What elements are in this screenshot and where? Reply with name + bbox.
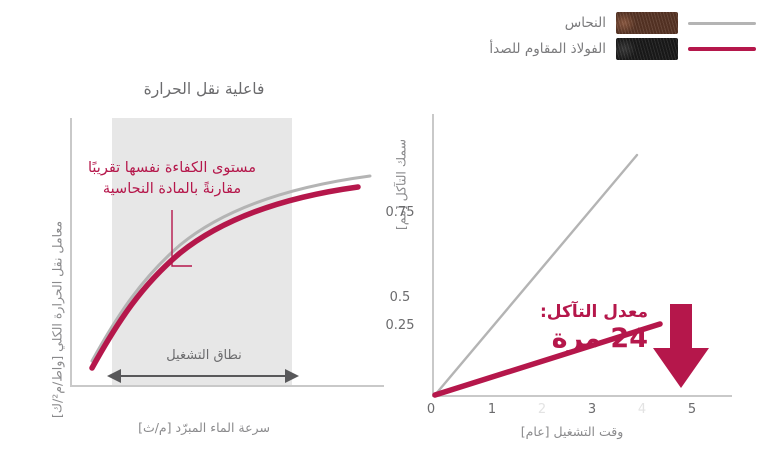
right-chart-panel: سمك التآكل [مم] 0.75 0.5 0.25 معدل التآك… — [384, 72, 760, 452]
corrosion-rate-annotation: معدل التآكل: 24 مرة — [500, 303, 648, 355]
right-chart-xtick-4: 4 — [620, 402, 664, 417]
line-copper — [435, 155, 637, 395]
right-chart-xtick-0: 0 — [409, 402, 453, 417]
legend-item-steel: الفولاذ المقاوم للصدأ — [489, 36, 756, 62]
right-chart-xlabel: وقت التشغيل [عام] — [384, 424, 760, 439]
corrosion-rate-label: معدل التآكل: — [500, 303, 648, 323]
curve-steel — [92, 187, 358, 368]
curve-copper — [92, 176, 370, 361]
left-chart-panel: فاعلية نقل الحرارة معامل نقل الحرارة الك… — [24, 72, 384, 452]
legend-label-copper: النحاس — [565, 15, 606, 31]
corrosion-rate-value: 24 مرة — [500, 323, 648, 355]
right-chart-ytick-025: 0.25 — [378, 318, 422, 333]
left-chart-xlabel: سرعة الماء المبرّد [م/ث] — [24, 420, 384, 435]
legend: النحاس الفولاذ المقاوم للصدأ — [0, 0, 768, 70]
left-chart-annotation: مستوى الكفاءة نفسها تقريبًا مقارنةً بالم… — [58, 158, 286, 199]
right-chart-xtick-1: 1 — [470, 402, 514, 417]
right-chart-ytick-05: 0.5 — [378, 290, 422, 305]
right-chart-ylabel: سمك التآكل [مم] — [394, 105, 409, 265]
legend-label-steel: الفولاذ المقاوم للصدأ — [489, 41, 606, 57]
right-chart-xtick-3: 3 — [570, 402, 614, 417]
left-chart-annotation-line1: مستوى الكفاءة نفسها تقريبًا — [58, 158, 286, 179]
copper-pipe-photo — [616, 12, 678, 34]
right-chart-ytick-075: 0.75 — [378, 205, 422, 220]
legend-swatch-copper — [688, 22, 756, 25]
right-chart-xtick-5: 5 — [670, 402, 714, 417]
legend-swatch-steel — [688, 47, 756, 51]
operating-range-arrow — [112, 368, 294, 384]
legend-item-copper: النحاس — [565, 10, 756, 36]
infographic-root: النحاس الفولاذ المقاوم للصدأ فاعلية نقل … — [0, 0, 768, 457]
steel-pipe-photo — [616, 38, 678, 60]
left-chart-annotation-line2: مقارنةً بالمادة النحاسية — [58, 179, 286, 200]
down-arrow-icon — [653, 304, 709, 388]
left-chart-ylabel: معامل نقل الحرارة الكلي [واط/م²/ك] — [50, 185, 65, 455]
left-chart-title: فاعلية نقل الحرارة — [24, 80, 384, 98]
operating-range-label: نطاق التشغيل — [24, 348, 384, 363]
right-chart-xtick-2: 2 — [520, 402, 564, 417]
